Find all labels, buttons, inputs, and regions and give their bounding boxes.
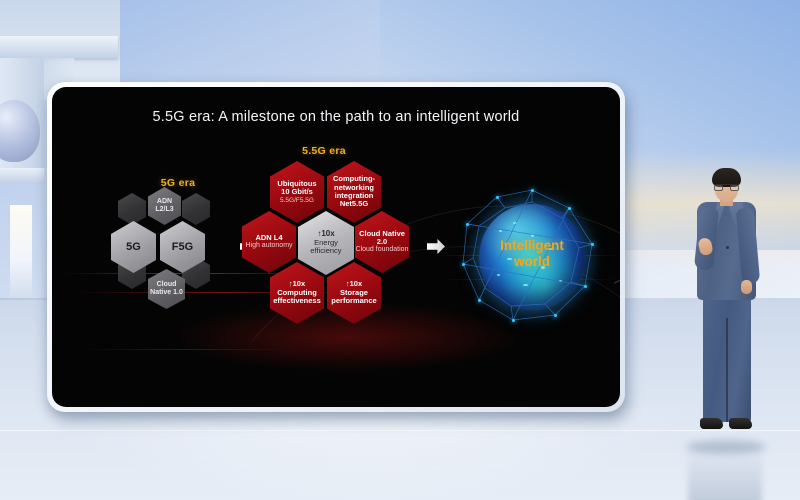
presenter — [672, 168, 780, 450]
hex-adnl4-line2: High autonomy — [245, 242, 292, 250]
presenter-hand-right — [741, 280, 752, 294]
hex-cni-line4: Net5.5G — [340, 200, 368, 208]
era-label-55g: 5.5G era — [274, 145, 374, 157]
globe-caption-line2: world — [457, 254, 607, 270]
hex-cloud2-line2: Cloud foundation — [356, 246, 409, 254]
hex-storage-line3: performance — [331, 297, 376, 305]
glasses-icon — [714, 184, 739, 190]
slide-title: 5.5G era: A milestone on the path to an … — [52, 109, 620, 125]
hex-compeff-line3: effectiveness — [273, 297, 321, 305]
hex-adnl4-line1: ADN L4 — [255, 234, 282, 242]
globe-caption: Intelligent world — [457, 238, 607, 270]
hex-adn-line2: L2/L3 — [155, 206, 173, 214]
red-light-streak — [82, 349, 292, 350]
hex-adn-line1: ADN — [157, 198, 172, 206]
hex-cloud1-line1: Cloud — [157, 281, 177, 289]
presentation-screen[interactable]: 5.5G era: A milestone on the path to an … — [52, 87, 620, 407]
architecture-beam — [0, 36, 118, 58]
presenter-leg-seam — [726, 318, 728, 422]
globe-caption-line1: Intelligent — [457, 238, 607, 254]
hex-cloud1-line2: Native 1.0 — [150, 289, 183, 297]
presentation-screen-frame: 5.5G era: A milestone on the path to an … — [47, 82, 625, 412]
presenter-shoe-left — [700, 418, 723, 429]
hex-5g-label: 5G — [126, 241, 141, 253]
presenter-floor-reflection — [688, 448, 762, 500]
intelligent-world-globe[interactable]: Intelligent world — [457, 182, 607, 332]
hex-cloud2-line1: Cloud Native 2.0 — [355, 230, 409, 247]
architecture-light-strip — [10, 205, 32, 305]
hex-f5g-label: F5G — [172, 241, 193, 253]
presenter-shoe-right — [729, 418, 752, 429]
stage-scene: 5.5G era: A milestone on the path to an … — [0, 0, 800, 500]
presenter-jacket-button — [726, 246, 729, 249]
hex-ubiq-line2: 10 Gbit/s — [281, 188, 313, 196]
era-label-5g: 5G era — [138, 177, 218, 189]
hex-ubiq-line3: 5.5G/F5.5G — [280, 197, 314, 204]
hex-energy-line2: Energy efficiency — [298, 239, 354, 256]
